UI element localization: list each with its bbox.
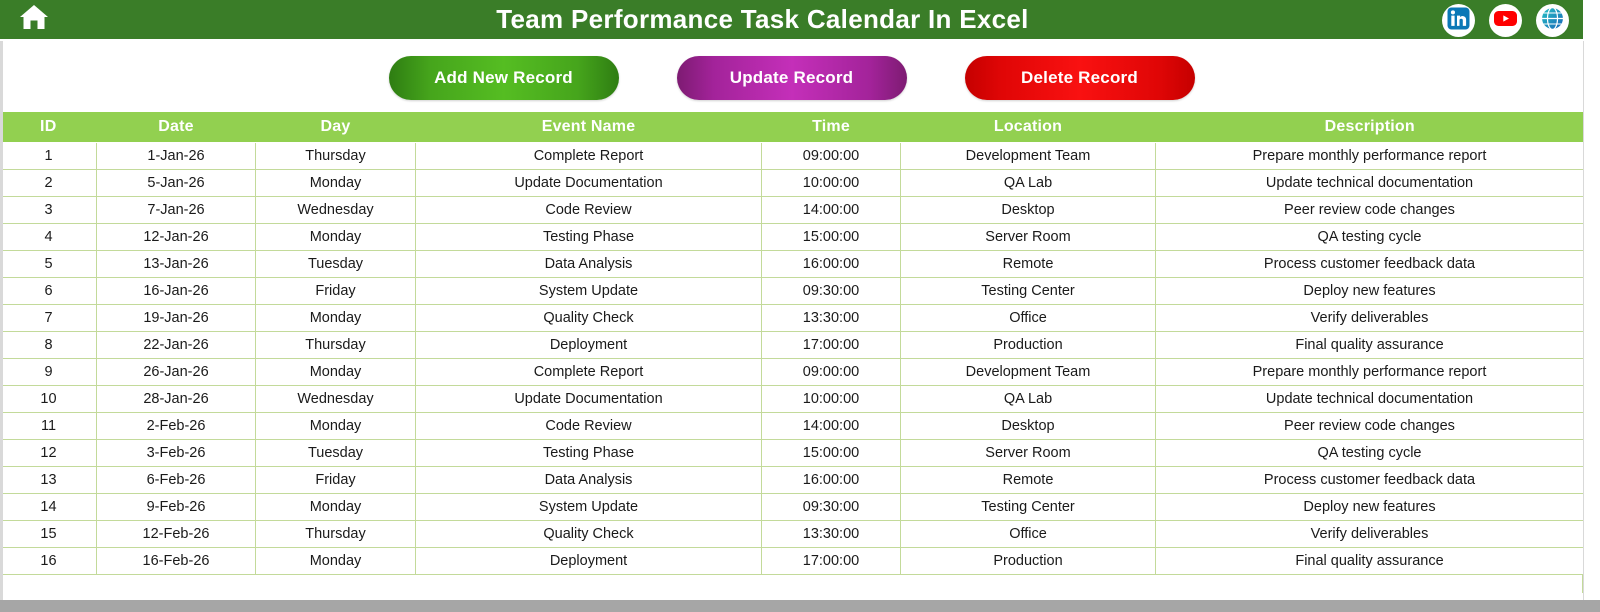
cell-date[interactable]: 12-Jan-26 bbox=[97, 223, 256, 250]
table-row[interactable]: 136-Feb-26FridayData Analysis16:00:00Rem… bbox=[1, 466, 1584, 493]
table-row[interactable]: 926-Jan-26MondayComplete Report09:00:00D… bbox=[1, 358, 1584, 385]
table-row[interactable]: 37-Jan-26WednesdayCode Review14:00:00Des… bbox=[1, 196, 1584, 223]
cell-date[interactable]: 12-Feb-26 bbox=[97, 520, 256, 547]
cell-location[interactable]: QA Lab bbox=[901, 169, 1156, 196]
table-row[interactable]: 1028-Jan-26WednesdayUpdate Documentation… bbox=[1, 385, 1584, 412]
sheet-bottom-strip bbox=[0, 600, 1600, 612]
cell-date[interactable]: 1-Jan-26 bbox=[97, 142, 256, 169]
home-icon bbox=[19, 3, 49, 36]
cell-event-name[interactable]: Code Review bbox=[416, 196, 762, 223]
cell-description[interactable]: Deploy new features bbox=[1156, 277, 1584, 304]
cell-date[interactable]: 26-Jan-26 bbox=[97, 358, 256, 385]
table-row[interactable]: 412-Jan-26MondayTesting Phase15:00:00Ser… bbox=[1, 223, 1584, 250]
cell-event-name[interactable]: Quality Check bbox=[416, 304, 762, 331]
cell-id[interactable]: 13 bbox=[1, 466, 97, 493]
cell-event-name[interactable]: Complete Report bbox=[416, 358, 762, 385]
cell-id[interactable]: 5 bbox=[1, 250, 97, 277]
website-globe-icon bbox=[1540, 6, 1565, 36]
cell-description[interactable]: Peer review code changes bbox=[1156, 196, 1584, 223]
cell-location[interactable]: Remote bbox=[901, 250, 1156, 277]
cell-date[interactable]: 28-Jan-26 bbox=[97, 385, 256, 412]
cell-location[interactable]: Desktop bbox=[901, 412, 1156, 439]
cell-day[interactable]: Monday bbox=[256, 358, 416, 385]
cell-description[interactable]: Final quality assurance bbox=[1156, 547, 1584, 574]
cell-description[interactable]: Process customer feedback data bbox=[1156, 250, 1584, 277]
cell-day[interactable]: Tuesday bbox=[256, 250, 416, 277]
cell-id[interactable]: 11 bbox=[1, 412, 97, 439]
cell-id[interactable]: 4 bbox=[1, 223, 97, 250]
cell-description[interactable]: Update technical documentation bbox=[1156, 385, 1584, 412]
cell-date[interactable]: 3-Feb-26 bbox=[97, 439, 256, 466]
cell-event-name[interactable]: Deployment bbox=[416, 331, 762, 358]
cell-time[interactable]: 15:00:00 bbox=[762, 223, 901, 250]
column-header-id[interactable]: ID bbox=[1, 112, 97, 142]
cell-time[interactable]: 09:30:00 bbox=[762, 493, 901, 520]
youtube-icon bbox=[1493, 6, 1518, 36]
cell-day[interactable]: Monday bbox=[256, 493, 416, 520]
cell-event-name[interactable]: Deployment bbox=[416, 547, 762, 574]
cell-day[interactable]: Monday bbox=[256, 412, 416, 439]
cell-time[interactable]: 13:30:00 bbox=[762, 304, 901, 331]
cell-day[interactable]: Monday bbox=[256, 223, 416, 250]
cell-day[interactable]: Thursday bbox=[256, 520, 416, 547]
cell-date[interactable]: 22-Jan-26 bbox=[97, 331, 256, 358]
table-row[interactable]: 719-Jan-26MondayQuality Check13:30:00Off… bbox=[1, 304, 1584, 331]
cell-time[interactable]: 10:00:00 bbox=[762, 385, 901, 412]
cell-description[interactable]: Peer review code changes bbox=[1156, 412, 1584, 439]
cell-event-name[interactable]: System Update bbox=[416, 277, 762, 304]
cell-date[interactable]: 13-Jan-26 bbox=[97, 250, 256, 277]
cell-location[interactable]: Remote bbox=[901, 466, 1156, 493]
column-header-day[interactable]: Day bbox=[256, 112, 416, 142]
cell-day[interactable]: Monday bbox=[256, 547, 416, 574]
column-header-event-name[interactable]: Event Name bbox=[416, 112, 762, 142]
cell-id[interactable]: 12 bbox=[1, 439, 97, 466]
cell-description[interactable]: QA testing cycle bbox=[1156, 439, 1584, 466]
column-header-date[interactable]: Date bbox=[97, 112, 256, 142]
cell-event-name[interactable]: Code Review bbox=[416, 412, 762, 439]
table-row[interactable]: 149-Feb-26MondaySystem Update09:30:00Tes… bbox=[1, 493, 1584, 520]
cell-time[interactable]: 17:00:00 bbox=[762, 331, 901, 358]
table-row[interactable]: 1512-Feb-26ThursdayQuality Check13:30:00… bbox=[1, 520, 1584, 547]
cell-day[interactable]: Thursday bbox=[256, 331, 416, 358]
cell-time[interactable]: 13:30:00 bbox=[762, 520, 901, 547]
cell-id[interactable]: 2 bbox=[1, 169, 97, 196]
cell-id[interactable]: 9 bbox=[1, 358, 97, 385]
table-row[interactable]: 25-Jan-26MondayUpdate Documentation10:00… bbox=[1, 169, 1584, 196]
cell-time[interactable]: 10:00:00 bbox=[762, 169, 901, 196]
table-row[interactable]: 822-Jan-26ThursdayDeployment17:00:00Prod… bbox=[1, 331, 1584, 358]
cell-event-name[interactable]: Testing Phase bbox=[416, 223, 762, 250]
cell-description[interactable]: Final quality assurance bbox=[1156, 331, 1584, 358]
banner-right-gutter bbox=[1583, 0, 1600, 41]
cell-location[interactable]: Office bbox=[901, 520, 1156, 547]
app-header-banner: Team Performance Task Calendar In Excel bbox=[0, 0, 1583, 41]
cell-day[interactable]: Thursday bbox=[256, 142, 416, 169]
cell-time[interactable]: 17:00:00 bbox=[762, 547, 901, 574]
cell-time[interactable]: 09:30:00 bbox=[762, 277, 901, 304]
add-new-record-button[interactable]: Add New Record bbox=[389, 56, 619, 100]
cell-event-name[interactable]: Quality Check bbox=[416, 520, 762, 547]
cell-day[interactable]: Wednesday bbox=[256, 385, 416, 412]
cell-day[interactable]: Wednesday bbox=[256, 196, 416, 223]
cell-date[interactable]: 7-Jan-26 bbox=[97, 196, 256, 223]
cell-id[interactable]: 3 bbox=[1, 196, 97, 223]
cell-location[interactable]: QA Lab bbox=[901, 385, 1156, 412]
table-header-row: ID Date Day Event Name Time Location Des… bbox=[1, 112, 1584, 142]
cell-time[interactable]: 16:00:00 bbox=[762, 466, 901, 493]
cell-date[interactable]: 16-Jan-26 bbox=[97, 277, 256, 304]
cell-description[interactable]: Update technical documentation bbox=[1156, 169, 1584, 196]
cell-description[interactable]: Deploy new features bbox=[1156, 493, 1584, 520]
cell-id[interactable]: 15 bbox=[1, 520, 97, 547]
table-header: ID Date Day Event Name Time Location Des… bbox=[1, 112, 1584, 142]
cell-day[interactable]: Monday bbox=[256, 169, 416, 196]
cell-location[interactable]: Server Room bbox=[901, 223, 1156, 250]
cell-event-name[interactable]: System Update bbox=[416, 493, 762, 520]
column-header-location[interactable]: Location bbox=[901, 112, 1156, 142]
sheet-right-gutter bbox=[1583, 41, 1600, 600]
table-row[interactable]: 513-Jan-26TuesdayData Analysis16:00:00Re… bbox=[1, 250, 1584, 277]
cell-description[interactable]: QA testing cycle bbox=[1156, 223, 1584, 250]
cell-date[interactable]: 6-Feb-26 bbox=[97, 466, 256, 493]
table-row[interactable]: 616-Jan-26FridaySystem Update09:30:00Tes… bbox=[1, 277, 1584, 304]
update-record-button[interactable]: Update Record bbox=[677, 56, 907, 100]
column-header-time[interactable]: Time bbox=[762, 112, 901, 142]
cell-time[interactable]: 14:00:00 bbox=[762, 412, 901, 439]
cell-date[interactable]: 5-Jan-26 bbox=[97, 169, 256, 196]
records-table: ID Date Day Event Name Time Location Des… bbox=[0, 112, 1584, 575]
cell-location[interactable]: Development Team bbox=[901, 142, 1156, 169]
cell-time[interactable]: 09:00:00 bbox=[762, 358, 901, 385]
cell-location[interactable]: Testing Center bbox=[901, 493, 1156, 520]
delete-record-button[interactable]: Delete Record bbox=[965, 56, 1195, 100]
cell-location[interactable]: Production bbox=[901, 331, 1156, 358]
cell-event-name[interactable]: Data Analysis bbox=[416, 466, 762, 493]
table-row[interactable]: 1616-Feb-26MondayDeployment17:00:00Produ… bbox=[1, 547, 1584, 574]
cell-day[interactable]: Friday bbox=[256, 277, 416, 304]
table-row[interactable]: 11-Jan-26ThursdayComplete Report09:00:00… bbox=[1, 142, 1584, 169]
cell-date[interactable]: 16-Feb-26 bbox=[97, 547, 256, 574]
app-root: Team Performance Task Calendar In Excel bbox=[0, 0, 1600, 612]
cell-day[interactable]: Monday bbox=[256, 304, 416, 331]
cell-id[interactable]: 6 bbox=[1, 277, 97, 304]
cell-id[interactable]: 14 bbox=[1, 493, 97, 520]
cell-location[interactable]: Office bbox=[901, 304, 1156, 331]
cell-event-name[interactable]: Update Documentation bbox=[416, 385, 762, 412]
cell-time[interactable]: 14:00:00 bbox=[762, 196, 901, 223]
cell-id[interactable]: 1 bbox=[1, 142, 97, 169]
cell-day[interactable]: Tuesday bbox=[256, 439, 416, 466]
cell-description[interactable]: Process customer feedback data bbox=[1156, 466, 1584, 493]
table-row[interactable]: 112-Feb-26MondayCode Review14:00:00Deskt… bbox=[1, 412, 1584, 439]
cell-description[interactable]: Verify deliverables bbox=[1156, 520, 1584, 547]
cell-day[interactable]: Friday bbox=[256, 466, 416, 493]
records-table-container: ID Date Day Event Name Time Location Des… bbox=[0, 112, 1583, 612]
table-empty-footer-row bbox=[0, 575, 1583, 593]
cell-date[interactable]: 19-Jan-26 bbox=[97, 304, 256, 331]
cell-description[interactable]: Prepare monthly performance report bbox=[1156, 142, 1584, 169]
cell-id[interactable]: 7 bbox=[1, 304, 97, 331]
website-link[interactable] bbox=[1536, 4, 1569, 37]
cell-date[interactable]: 2-Feb-26 bbox=[97, 412, 256, 439]
action-toolbar: Add New Record Update Record Delete Reco… bbox=[0, 43, 1583, 112]
table-row[interactable]: 123-Feb-26TuesdayTesting Phase15:00:00Se… bbox=[1, 439, 1584, 466]
cell-location[interactable]: Production bbox=[901, 547, 1156, 574]
cell-event-name[interactable]: Update Documentation bbox=[416, 169, 762, 196]
home-button[interactable] bbox=[0, 0, 62, 40]
cell-time[interactable]: 16:00:00 bbox=[762, 250, 901, 277]
cell-description[interactable]: Verify deliverables bbox=[1156, 304, 1584, 331]
youtube-link[interactable] bbox=[1489, 4, 1522, 37]
column-header-description[interactable]: Description bbox=[1156, 112, 1584, 142]
cell-location[interactable]: Desktop bbox=[901, 196, 1156, 223]
linkedin-link[interactable] bbox=[1442, 4, 1475, 37]
cell-event-name[interactable]: Data Analysis bbox=[416, 250, 762, 277]
cell-location[interactable]: Testing Center bbox=[901, 277, 1156, 304]
cell-time[interactable]: 09:00:00 bbox=[762, 142, 901, 169]
cell-id[interactable]: 8 bbox=[1, 331, 97, 358]
cell-event-name[interactable]: Complete Report bbox=[416, 142, 762, 169]
cell-time[interactable]: 15:00:00 bbox=[762, 439, 901, 466]
linkedin-icon bbox=[1446, 6, 1471, 36]
cell-id[interactable]: 10 bbox=[1, 385, 97, 412]
cell-id[interactable]: 16 bbox=[1, 547, 97, 574]
page-title: Team Performance Task Calendar In Excel bbox=[62, 0, 1583, 40]
table-body: 11-Jan-26ThursdayComplete Report09:00:00… bbox=[1, 142, 1584, 574]
cell-event-name[interactable]: Testing Phase bbox=[416, 439, 762, 466]
sheet-left-rail bbox=[0, 41, 3, 600]
social-links bbox=[1442, 0, 1569, 41]
cell-location[interactable]: Development Team bbox=[901, 358, 1156, 385]
cell-date[interactable]: 9-Feb-26 bbox=[97, 493, 256, 520]
cell-description[interactable]: Prepare monthly performance report bbox=[1156, 358, 1584, 385]
cell-location[interactable]: Server Room bbox=[901, 439, 1156, 466]
